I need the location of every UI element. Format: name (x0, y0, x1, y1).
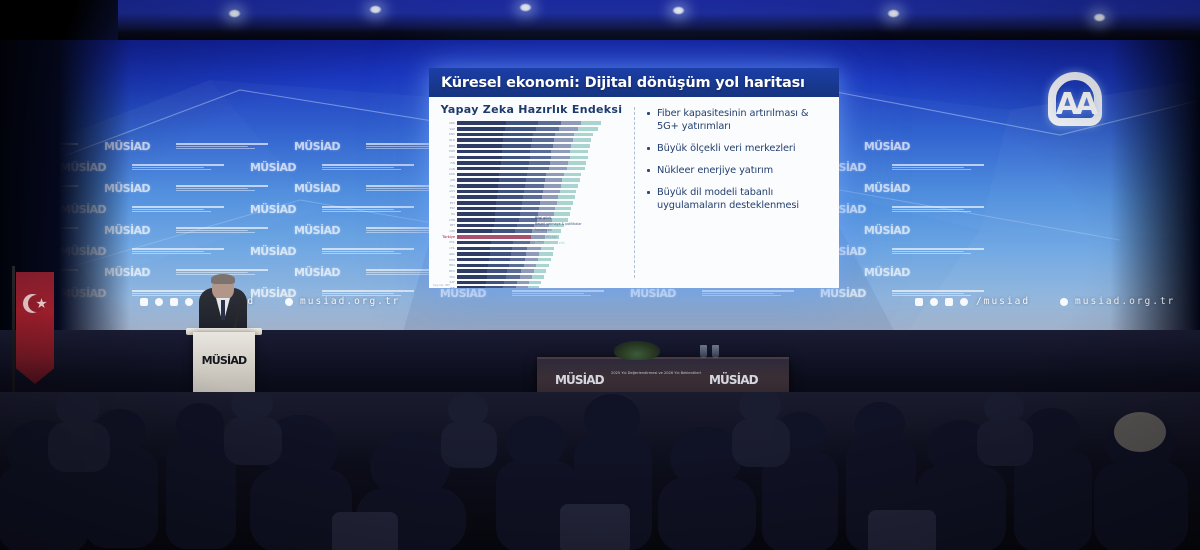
chart-bar-segment (496, 201, 521, 205)
chart-bar-label: MYS (429, 258, 457, 262)
chart-bar-segment (516, 286, 528, 288)
chart-bar-segment (541, 247, 555, 251)
chart-bar (457, 264, 549, 268)
chart-bar-label: BRA (429, 263, 457, 267)
chart-bar-segment (550, 161, 568, 165)
chart-bar (457, 201, 573, 205)
chart-bar-label: KOR (429, 172, 457, 176)
chart-bar-segment (457, 161, 501, 165)
chart-bar (457, 258, 551, 262)
chart-bar-segment (525, 184, 544, 188)
chart-bar-label: CAN (429, 167, 457, 171)
chart-bar-segment (457, 241, 491, 245)
chart-bar-row: ZAF (457, 280, 626, 284)
twitter-icon (930, 298, 938, 306)
chart-bar-row: BRA (457, 263, 626, 267)
chart-bar (457, 127, 598, 131)
turkish-flag-icon (16, 272, 54, 384)
chart-bar-row: CHL (457, 246, 626, 250)
head-table-logo-right: MÜSİAD (709, 373, 758, 387)
chart-bar-label: GBR (429, 155, 457, 159)
chart-bar-row: AUS (457, 189, 626, 193)
chart-bar (457, 195, 575, 199)
chart-bar-segment (564, 173, 581, 177)
chart-bar-segment (549, 167, 567, 171)
chart-bar-segment (545, 178, 562, 182)
chart-bar-segment (568, 161, 586, 165)
chart-bar-segment (561, 121, 581, 125)
chart-bar-segment (494, 224, 518, 228)
chart-bar-segment (536, 127, 559, 131)
chart-bar-segment (524, 264, 537, 268)
chart-bar (457, 281, 541, 285)
chart-bar-segment (529, 161, 550, 165)
audience-seating (0, 392, 1200, 550)
chart-bar-segment (485, 286, 503, 288)
chart-bar (457, 252, 553, 256)
chart-bar-segment (495, 218, 519, 222)
chart-bar-segment (499, 178, 526, 182)
chart-bar-segment (490, 247, 511, 251)
chart-bar-segment (496, 207, 521, 211)
chart-bar-segment (457, 195, 497, 199)
chart-bar-row: CAN (457, 167, 626, 171)
chart-bar-segment (507, 269, 521, 273)
chart-bar-segment (570, 156, 588, 160)
chart-bar-segment (521, 207, 539, 211)
chart-bar-segment (514, 235, 530, 239)
chart-bar-segment (554, 138, 573, 142)
audience-silhouettes (0, 392, 1200, 550)
chart-bar-row: MEX (457, 269, 626, 273)
chart-bar-row: NLD (457, 138, 626, 142)
chart-bar-segment (457, 207, 496, 211)
chart-bar (457, 138, 591, 142)
aa-broadcaster-logo: AA (1044, 72, 1106, 130)
chart-bar-segment (502, 144, 531, 148)
chart-bar (457, 190, 576, 194)
chart-bar (457, 275, 544, 279)
chart-bar-segment (527, 247, 541, 251)
chart-bar-label: SGP (429, 127, 457, 131)
chart-bar-segment (578, 127, 598, 131)
chart-bar-segment (492, 235, 515, 239)
chart-bar (457, 247, 554, 251)
podium: MÜSİAD (193, 332, 255, 396)
chart-bar-segment (457, 247, 490, 251)
chart-bar-label-highlight: Türkiye (429, 235, 457, 239)
chart-bar-label: CHL (429, 246, 457, 250)
website-url: musiad.org.tr (300, 296, 400, 307)
water-glass (712, 345, 719, 358)
chart-bar-segment (543, 190, 560, 194)
slide-title: Küresel ekonomi: Dijital dönüşüm yol har… (441, 75, 805, 91)
chart-bar-segment (517, 281, 529, 285)
social-handle: /musiad (976, 296, 1030, 307)
chart-bar-segment (487, 269, 507, 273)
list-item: Nükleer enerjiye yatırım (647, 164, 831, 177)
chart-bar-segment (527, 173, 547, 177)
podium-logo-text: MÜSİAD (193, 354, 255, 367)
chart-bar-segment (506, 275, 520, 279)
chart-bar-segment (457, 121, 506, 125)
chart-bar-segment (539, 207, 555, 211)
ceiling-spotlight-icon (519, 3, 532, 12)
chart-bar-segment (489, 258, 510, 262)
backdrop-social-strip-left: /musiad musiad.org.tr (140, 296, 400, 307)
chart-bar-segment (457, 275, 487, 279)
chart-bar-segment (457, 150, 502, 154)
chart-bar-segment (498, 184, 525, 188)
instagram-icon (945, 298, 953, 306)
chart-bar-segment (530, 150, 551, 154)
chart-bar-segment (503, 286, 516, 288)
table-flower-arrangement (614, 341, 660, 360)
chart-bar-label: DNK (429, 132, 457, 136)
bullet-text: Büyük dil modeli tabanlı uygulamaların d… (657, 186, 831, 212)
chart-bar-label: POL (429, 240, 457, 244)
chart-bar-label: ABD (429, 121, 457, 125)
chart-bar-segment (538, 258, 551, 262)
chart-bar-segment (497, 195, 523, 199)
chart-bar-segment (531, 144, 552, 148)
chart-bar-segment (457, 258, 489, 262)
chart-bar-segment (457, 178, 499, 182)
projected-slide: Küresel ekonomi: Dijital dönüşüm yol har… (429, 68, 839, 288)
chart-bar-segment (529, 281, 541, 285)
chart-legend-item: Regülasyon & etik (535, 240, 582, 246)
chart-bar-segment (511, 252, 526, 256)
slide-bullet-list: Fiber kapasitesinin artırılması & 5G+ ya… (635, 97, 839, 288)
chart-bar-row: SWE (457, 149, 626, 153)
chart-bar (457, 156, 588, 160)
chart-bar-segment (567, 167, 585, 171)
facebook-icon (140, 298, 148, 306)
chart-bar-row: DEU (457, 144, 626, 148)
chart-bar-label: GRC (429, 252, 457, 256)
chart-bar-segment (457, 269, 487, 273)
chart-bar-segment (457, 190, 498, 194)
chart-bar-segment (528, 167, 548, 171)
list-item: Büyük ölçekli veri merkezleri (647, 142, 831, 155)
chart-bar-row: KOR (457, 172, 626, 176)
chart-bar-segment (513, 241, 529, 245)
bullet-text: Büyük ölçekli veri merkezleri (657, 142, 795, 155)
chart-bar-row: MYS (457, 258, 626, 262)
bullet-text: Fiber kapasitesinin artırılması & 5G+ ya… (657, 107, 831, 133)
globe-icon (285, 298, 293, 306)
chart-bar-segment (501, 161, 529, 165)
chart-bar-segment (533, 133, 555, 137)
chart-bar-segment (486, 281, 504, 285)
chart-legend: Bilgi gücüBeşeri sermaye & politikalarİn… (535, 215, 582, 246)
chart-bar-label: DEU (429, 144, 457, 148)
ceiling-spotlight-icon (672, 6, 685, 15)
list-item: Fiber kapasitesinin artırılması & 5G+ ya… (647, 107, 831, 133)
twitter-icon (155, 298, 163, 306)
chart-bar-segment (457, 264, 488, 268)
chart-bar-segment (517, 224, 534, 228)
chart-bar-segment (546, 173, 563, 177)
bullet-text: Nükleer enerjiye yatırım (657, 164, 773, 177)
chart-bar-label: NLD (429, 138, 457, 142)
chart-bar-segment (542, 195, 558, 199)
chart-bar-segment (521, 269, 533, 273)
chart-bar-label: AUS (429, 189, 457, 193)
chart-bar-segment (457, 212, 495, 216)
chart-bar-segment (510, 258, 525, 262)
chart-bar (457, 144, 590, 148)
chart-bar-segment (525, 258, 538, 262)
chart-bar-segment (534, 269, 546, 273)
chart-bar (457, 184, 578, 188)
chart-bar (457, 167, 585, 171)
chart-bar-segment (498, 190, 524, 194)
chart-bar-segment (457, 127, 505, 131)
chart-bar-segment (559, 127, 579, 131)
chart-bar-segment (500, 167, 528, 171)
chart-bar-segment (551, 150, 569, 154)
chart-bar (457, 121, 601, 125)
chart-bar-segment (457, 235, 492, 239)
chart-bar-label: ITA (429, 212, 457, 216)
chart-bar-segment (532, 275, 544, 279)
chart-bar-segment (530, 156, 551, 160)
chart-bar (457, 161, 586, 165)
chart-bar-segment (574, 133, 593, 137)
instagram-icon (170, 298, 178, 306)
chart-bar (457, 150, 588, 154)
chart-bar-segment (495, 212, 520, 216)
chart-bar (457, 173, 581, 177)
chart-bar-segment (457, 138, 503, 142)
chart-bar-row: THA (457, 275, 626, 279)
bar-chart: ABDSGPDNKNLDDEUSWEGBRFINCANKORJPNFRAAUSI… (429, 121, 634, 288)
chart-bar-label: JPN (429, 178, 457, 182)
chart-bar (457, 269, 546, 273)
chart-bar-segment (523, 195, 542, 199)
bullet-icon (647, 112, 650, 115)
chart-bar-label: ISR (429, 195, 457, 199)
chart-bar-row: ISR (457, 195, 626, 199)
head-table-logo-left: MÜSİAD (555, 373, 604, 387)
chart-bar-segment (528, 286, 540, 288)
chart-bar-segment (520, 275, 532, 279)
chart-column: Yapay Zeka Hazırlık Endeksi ABDSGPDNKNLD… (429, 97, 634, 288)
head-table-subtitle: 2025 Yılı Değerlendirmesi ve 2026 Yılı B… (611, 371, 701, 377)
chart-bar-segment (457, 229, 492, 233)
chart-bar-segment (457, 144, 502, 148)
chart-bar-segment (502, 150, 531, 154)
chart-bar-label: ESP (429, 206, 457, 210)
chart-bar-segment (488, 264, 508, 268)
chart-bar-segment (573, 138, 592, 142)
backdrop-right-shadow (1110, 40, 1200, 340)
water-glass (700, 345, 707, 358)
list-item: Büyük dil modeli tabanlı uygulamaların d… (647, 186, 831, 212)
chart-bar (457, 207, 571, 211)
backdrop-social-strip-right: /musiad musiad.org.tr (915, 296, 1175, 307)
chart-bar-row: IDN (457, 286, 626, 288)
chart-bar-segment (457, 201, 496, 205)
chart-bar-row: ABD (457, 121, 626, 125)
chart-bar-row: FRA (457, 184, 626, 188)
chart-bar-segment (457, 286, 485, 288)
flag-pole (12, 266, 15, 396)
chart-bar-segment (492, 229, 515, 233)
chart-bar-segment (457, 218, 495, 222)
ceiling-spotlight-icon (369, 5, 382, 14)
linkedin-icon (960, 298, 968, 306)
chart-bar-label: CHN (429, 218, 457, 222)
chart-bar-segment (457, 252, 490, 256)
chart-bar-segment (515, 229, 532, 233)
chart-bar-segment (561, 184, 578, 188)
ceiling-spotlight-icon (1093, 13, 1106, 22)
chart-bar-segment (503, 133, 533, 137)
chart-bar-segment (487, 275, 506, 279)
chart-bar-segment (522, 201, 541, 205)
chart-bar-label: SWE (429, 149, 457, 153)
chart-title: Yapay Zeka Hazırlık Endeksi (429, 103, 634, 116)
chart-bar-segment (509, 264, 524, 268)
chart-bar-row: DNK (457, 132, 626, 136)
chart-bar-segment (526, 178, 546, 182)
chart-bar-segment (560, 190, 577, 194)
chart-bar-label: THA (429, 275, 457, 279)
chart-bar-segment (551, 156, 569, 160)
conference-photo: MÜSİADMÜSİADMÜSİADMÜSİADMÜSİAD MÜSİADMÜS… (0, 0, 1200, 550)
chart-bar (457, 286, 539, 288)
bullet-icon (647, 147, 650, 150)
chart-bar (457, 178, 580, 182)
chart-bar-segment (555, 207, 571, 211)
chart-bar-segment (558, 195, 574, 199)
chart-bar-segment (457, 133, 503, 137)
chart-bar-segment (505, 127, 536, 131)
chart-bar-segment (555, 133, 574, 137)
chart-bar-label: PRT (429, 223, 457, 227)
website-url: musiad.org.tr (1075, 296, 1175, 307)
chart-bar-segment (571, 144, 590, 148)
ceiling-spotlight-icon (887, 9, 900, 18)
chart-bar-segment (562, 178, 579, 182)
chart-bar-segment (490, 252, 511, 256)
chart-bar-segment (536, 264, 549, 268)
linkedin-icon (185, 298, 193, 306)
chart-bar-label: CZE (429, 229, 457, 233)
chart-bar-segment (538, 121, 561, 125)
chart-bar-segment (512, 247, 528, 251)
slide-body: Yapay Zeka Hazırlık Endeksi ABDSGPDNKNLD… (429, 97, 839, 288)
chart-bar-segment (457, 224, 494, 228)
chart-bar-row: JPN (457, 178, 626, 182)
slide-divider (634, 107, 635, 278)
chart-bar-segment (506, 121, 538, 125)
chart-bar-segment (557, 201, 573, 205)
chart-bar-segment (457, 184, 498, 188)
chart-bar-segment (504, 281, 517, 285)
globe-icon (1060, 298, 1068, 306)
chart-bar-segment (540, 201, 556, 205)
chart-bar-label: FIN (429, 161, 457, 165)
chart-bar-row: EST (457, 201, 626, 205)
chart-bar-row: SGP (457, 127, 626, 131)
speaker-tie (221, 300, 225, 320)
chart-bar-row: GBR (457, 155, 626, 159)
chart-bar-row: ESP (457, 206, 626, 210)
chart-bar-row: GRC (457, 252, 626, 256)
chart-bar-segment (502, 156, 531, 160)
chart-bar-segment (457, 281, 486, 285)
chart-bar-segment (457, 167, 500, 171)
bullet-icon (647, 169, 650, 172)
chart-bar (457, 133, 593, 137)
chart-bar-segment (539, 252, 552, 256)
chart-bar-label: MEX (429, 269, 457, 273)
chart-bar-row: FIN (457, 161, 626, 165)
chart-bar-segment (457, 156, 502, 160)
chart-bar-segment (553, 144, 572, 148)
chart-bar-segment (457, 173, 499, 177)
chart-bar-segment (570, 150, 588, 154)
chart-bar-segment (544, 184, 561, 188)
slide-title-bar: Küresel ekonomi: Dijital dönüşüm yol har… (429, 68, 839, 97)
aa-logo-text: AA (1044, 87, 1106, 122)
chart-bar-label: EST (429, 201, 457, 205)
chart-bar-segment (491, 241, 513, 245)
speaker-hair (211, 274, 235, 284)
ceiling-spotlight-icon (228, 9, 241, 18)
chart-bar-segment (581, 121, 601, 125)
chart-bar-segment (499, 173, 526, 177)
chart-bar-segment (526, 252, 539, 256)
facebook-icon (915, 298, 923, 306)
chart-source-note: Kaynak: IMF (433, 283, 450, 287)
chart-bar-segment (524, 190, 543, 194)
chart-bar-segment (503, 138, 533, 142)
bullet-icon (647, 191, 650, 194)
chart-bar-segment (532, 138, 554, 142)
chart-bar-label: FRA (429, 184, 457, 188)
